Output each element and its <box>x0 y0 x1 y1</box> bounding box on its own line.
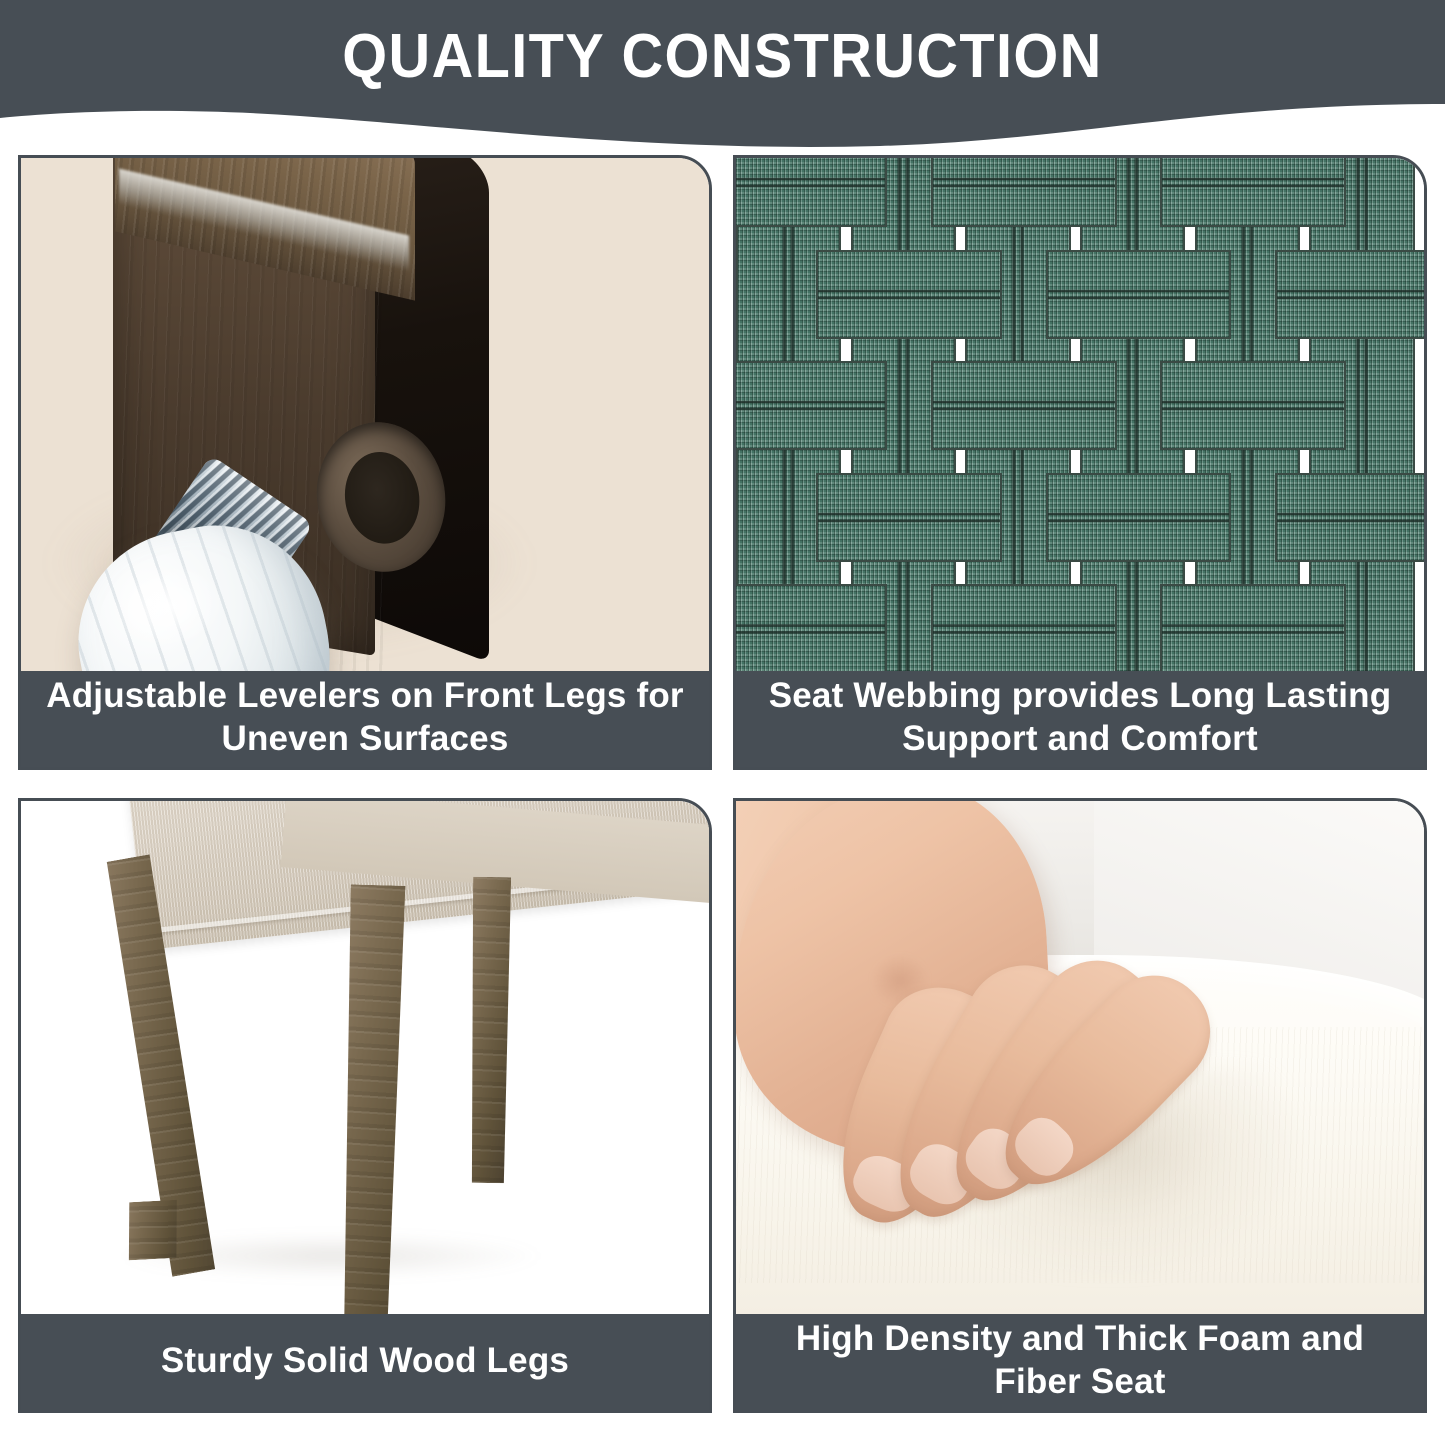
webbing-strap-horizontal <box>931 158 1117 227</box>
caption-wood-legs: Sturdy Solid Wood Legs <box>21 1314 709 1410</box>
caption-seat-webbing: Seat Webbing provides Long Lasting Suppo… <box>736 671 1424 767</box>
webbing-strap-horizontal <box>736 361 887 450</box>
panel-wood-legs: Sturdy Solid Wood Legs <box>18 798 712 1413</box>
chair-leg-rear-right <box>469 877 511 1184</box>
webbing-strap-horizontal <box>1160 361 1346 450</box>
hand-pressing-foam <box>736 801 1231 1258</box>
leveler-photo <box>21 158 709 671</box>
webbing-strap-horizontal <box>816 250 1002 339</box>
caption-seat-webbing-text: Seat Webbing provides Long Lasting Suppo… <box>750 675 1410 760</box>
fingernail-pinky <box>1007 1108 1083 1184</box>
webbing-strap-horizontal <box>1046 473 1232 562</box>
page-title: QUALITY CONSTRUCTION <box>51 26 1395 88</box>
feature-panel-grid: Adjustable Levelers on Front Legs for Un… <box>18 155 1427 1427</box>
webbing-strap-horizontal <box>1160 158 1346 227</box>
panel-seat-webbing: Seat Webbing provides Long Lasting Suppo… <box>733 155 1427 770</box>
panel-levelers: Adjustable Levelers on Front Legs for Un… <box>18 155 712 770</box>
webbing-strap-horizontal <box>931 584 1117 671</box>
caption-wood-legs-text: Sturdy Solid Wood Legs <box>35 1340 695 1383</box>
wood-legs-photo <box>21 801 709 1314</box>
caption-levelers-text: Adjustable Levelers on Front Legs for Un… <box>35 675 695 760</box>
leg-grain-rear-left-foot <box>124 1200 185 1261</box>
webbing-strap-horizontal <box>1275 250 1424 339</box>
foam-seat-photo <box>736 801 1424 1314</box>
leveler-socket-hole <box>338 447 425 549</box>
seat-webbing-photo <box>736 158 1424 671</box>
webbing-strap-horizontal <box>736 584 887 671</box>
chair-leg-rear-left-foot <box>124 1200 185 1261</box>
webbing-strap-horizontal <box>1275 473 1424 562</box>
header-band: QUALITY CONSTRUCTION <box>0 0 1445 160</box>
webbing-strap-horizontal <box>816 473 1002 562</box>
panel-foam-seat: High Density and Thick Foam and Fiber Se… <box>733 798 1427 1413</box>
caption-foam-seat-text: High Density and Thick Foam and Fiber Se… <box>750 1318 1410 1403</box>
webbing-strap-horizontal <box>1046 250 1232 339</box>
webbing-strap-horizontal <box>1160 584 1346 671</box>
leg-grain-rear-right <box>469 877 511 1184</box>
caption-foam-seat: High Density and Thick Foam and Fiber Se… <box>736 1314 1424 1410</box>
webbing-strap-horizontal <box>736 158 887 227</box>
caption-levelers: Adjustable Levelers on Front Legs for Un… <box>21 671 709 767</box>
webbing-weave <box>736 158 1424 671</box>
webbing-strap-horizontal <box>931 361 1117 450</box>
